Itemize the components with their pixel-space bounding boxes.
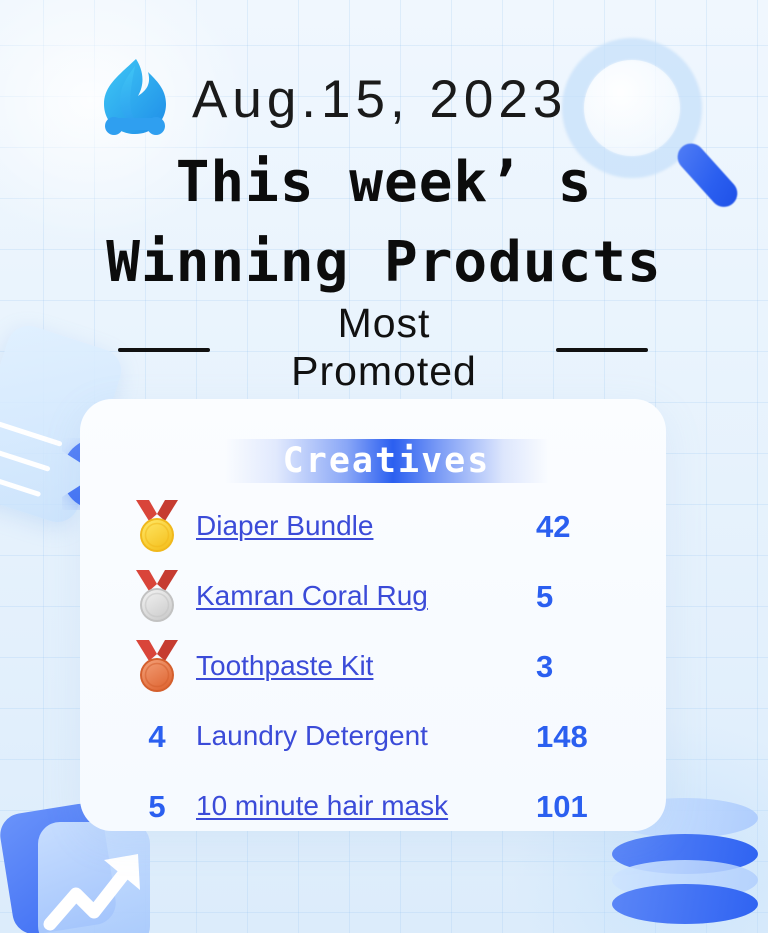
bronze-medal-icon	[130, 638, 184, 694]
product-link[interactable]: Diaper Bundle	[196, 509, 528, 543]
magnifier-lens	[584, 60, 680, 156]
promotion-count: 3	[528, 651, 666, 682]
gold-medal-icon	[130, 498, 184, 554]
product-link[interactable]: Kamran Coral Rug	[196, 579, 528, 613]
table-row[interactable]: Toothpaste Kit 3	[80, 631, 666, 701]
rank-cell: 4	[118, 721, 196, 752]
db-disk-band-2	[612, 884, 758, 924]
product-link[interactable]: 10 minute hair mask	[196, 789, 528, 823]
promotion-count: 101	[528, 791, 666, 822]
poster-date: Aug.15, 2023	[192, 73, 567, 126]
headline-line-2: Winning Products	[0, 223, 768, 303]
promotion-count: 148	[528, 721, 666, 752]
promotion-count: 5	[528, 581, 666, 612]
headline-line-1: This week’ s	[176, 150, 593, 215]
rank-cell	[118, 638, 196, 694]
rank-cell	[118, 498, 196, 554]
table-row[interactable]: 4 Laundry Detergent 148	[80, 701, 666, 771]
ranking-panel: Creatives Diaper Bundle 42 Kam	[80, 399, 666, 831]
divider-right	[556, 348, 648, 352]
panel-title-banner: Creatives	[224, 439, 549, 483]
product-label: Laundry Detergent	[196, 719, 528, 753]
rank-cell: 5	[118, 791, 196, 822]
ranking-list: Diaper Bundle 42 Kamran Coral Rug 5	[80, 491, 666, 841]
trend-arrow-icon	[42, 832, 152, 933]
section-subtitle-line-1: Most	[0, 300, 768, 348]
table-row[interactable]: Diaper Bundle 42	[80, 491, 666, 561]
rank-cell	[118, 568, 196, 624]
divider-left	[118, 348, 210, 352]
section-subtitle-line-2: Promoted	[0, 348, 768, 396]
rank-number: 5	[148, 791, 165, 822]
table-row[interactable]: 5 10 minute hair mask 101	[80, 771, 666, 841]
section-subtitle: Most Promoted	[0, 300, 768, 396]
brand-logo-icon	[96, 56, 174, 142]
rank-number: 4	[148, 721, 165, 752]
promotion-count: 42	[528, 511, 666, 542]
page-title: This week’ s Winning Products	[0, 143, 768, 302]
brand-row: Aug.15, 2023	[96, 56, 567, 142]
poster-canvas: Aug.15, 2023 This week’ s Winning Produc…	[0, 0, 768, 933]
panel-title: Creatives	[283, 444, 491, 479]
table-row[interactable]: Kamran Coral Rug 5	[80, 561, 666, 631]
silver-medal-icon	[130, 568, 184, 624]
product-link[interactable]: Toothpaste Kit	[196, 649, 528, 683]
